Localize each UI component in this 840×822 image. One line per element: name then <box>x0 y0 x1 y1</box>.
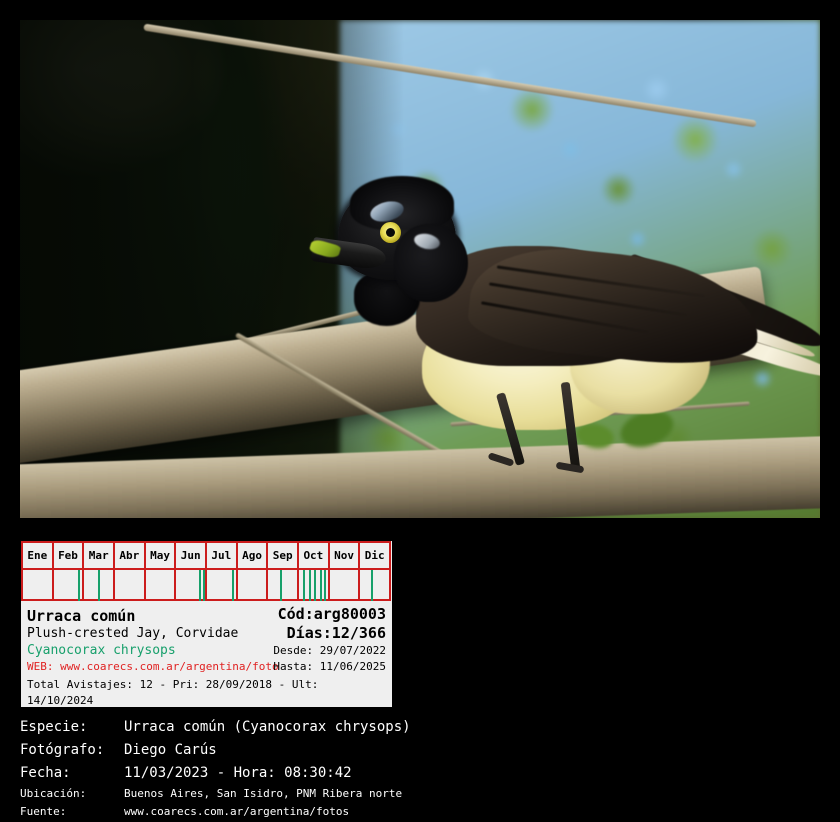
location-value: Buenos Aires, San Isidro, PNM Ribera nor… <box>124 785 402 803</box>
month-track-jul <box>207 570 238 601</box>
card-right-column: Cód:arg80003 Días:12/366 Desde: 29/07/20… <box>236 605 386 675</box>
month-header-nov: Nov <box>330 543 361 568</box>
bird-pupil <box>386 228 395 237</box>
sighting-tick <box>199 570 201 601</box>
bird-photo <box>20 20 820 518</box>
month-track-nov <box>330 570 361 601</box>
species-info-card: EneFebMarAbrMayJunJulAgoSepOctNovDic Urr… <box>21 541 392 707</box>
sighting-tick <box>303 570 305 601</box>
month-header-mar: Mar <box>84 543 115 568</box>
source-value[interactable]: www.coarecs.com.ar/argentina/fotos <box>124 803 349 821</box>
sighting-tick <box>203 570 205 601</box>
total-sightings-line: Total Avistajes: 12 - Pri: 28/09/2018 - … <box>27 675 386 709</box>
range-to: Hasta: 11/06/2025 <box>236 659 386 675</box>
month-header-abr: Abr <box>115 543 146 568</box>
date-value: 11/03/2023 - Hora: 08:30:42 <box>124 762 352 785</box>
month-header-dic: Dic <box>360 543 391 568</box>
month-header-jun: Jun <box>176 543 207 568</box>
calendar-month-header: EneFebMarAbrMayJunJulAgoSepOctNovDic <box>21 543 391 570</box>
month-header-ago: Ago <box>238 543 269 568</box>
meta-row-source: Fuente: www.coarecs.com.ar/argentina/fot… <box>20 803 820 821</box>
sighting-tick <box>280 570 282 601</box>
sighting-tick <box>309 570 311 601</box>
meta-row-location: Ubicación: Buenos Aires, San Isidro, PNM… <box>20 785 820 803</box>
month-header-sep: Sep <box>268 543 299 568</box>
month-track-jun <box>176 570 207 601</box>
monthly-sighting-calendar: EneFebMarAbrMayJunJulAgoSepOctNovDic <box>21 541 391 601</box>
month-track-oct <box>299 570 330 601</box>
month-header-may: May <box>146 543 177 568</box>
month-track-ene <box>21 570 54 601</box>
meta-row-date: Fecha: 11/03/2023 - Hora: 08:30:42 <box>20 762 820 785</box>
bird-crest <box>350 176 454 230</box>
calendar-sighting-track <box>21 570 391 601</box>
month-track-ago <box>238 570 269 601</box>
month-track-sep <box>268 570 299 601</box>
photographer-value: Diego Carús <box>124 739 217 762</box>
sighting-tick <box>98 570 100 601</box>
meta-row-species: Especie: Urraca común (Cyanocorax chryso… <box>20 716 820 739</box>
month-header-jul: Jul <box>207 543 238 568</box>
month-header-ene: Ene <box>21 543 54 568</box>
sighting-tick <box>232 570 234 601</box>
bird-subject <box>320 180 780 460</box>
sighting-tick <box>78 570 80 601</box>
month-track-may <box>146 570 177 601</box>
month-track-mar <box>84 570 115 601</box>
sighting-tick <box>324 570 326 601</box>
range-from: Desde: 29/07/2022 <box>236 643 386 659</box>
date-label: Fecha: <box>20 762 124 785</box>
location-label: Ubicación: <box>20 785 124 803</box>
source-label: Fuente: <box>20 803 124 821</box>
month-track-feb <box>54 570 85 601</box>
card-text-block: Urraca común Plush-crested Jay, Corvidae… <box>21 601 392 705</box>
species-label: Especie: <box>20 716 124 739</box>
month-header-feb: Feb <box>54 543 85 568</box>
photographer-label: Fotógrafo: <box>20 739 124 762</box>
species-value: Urraca común (Cyanocorax chrysops) <box>124 716 411 739</box>
meta-row-photographer: Fotógrafo: Diego Carús <box>20 739 820 762</box>
species-code: Cód:arg80003 <box>236 605 386 624</box>
sighting-tick <box>314 570 316 601</box>
sighting-tick <box>320 570 322 601</box>
month-header-oct: Oct <box>299 543 330 568</box>
days-count: Días:12/366 <box>236 624 386 643</box>
month-track-abr <box>115 570 146 601</box>
month-track-dic <box>360 570 391 601</box>
sighting-tick <box>371 570 373 601</box>
photo-metadata: Especie: Urraca común (Cyanocorax chryso… <box>20 716 820 821</box>
